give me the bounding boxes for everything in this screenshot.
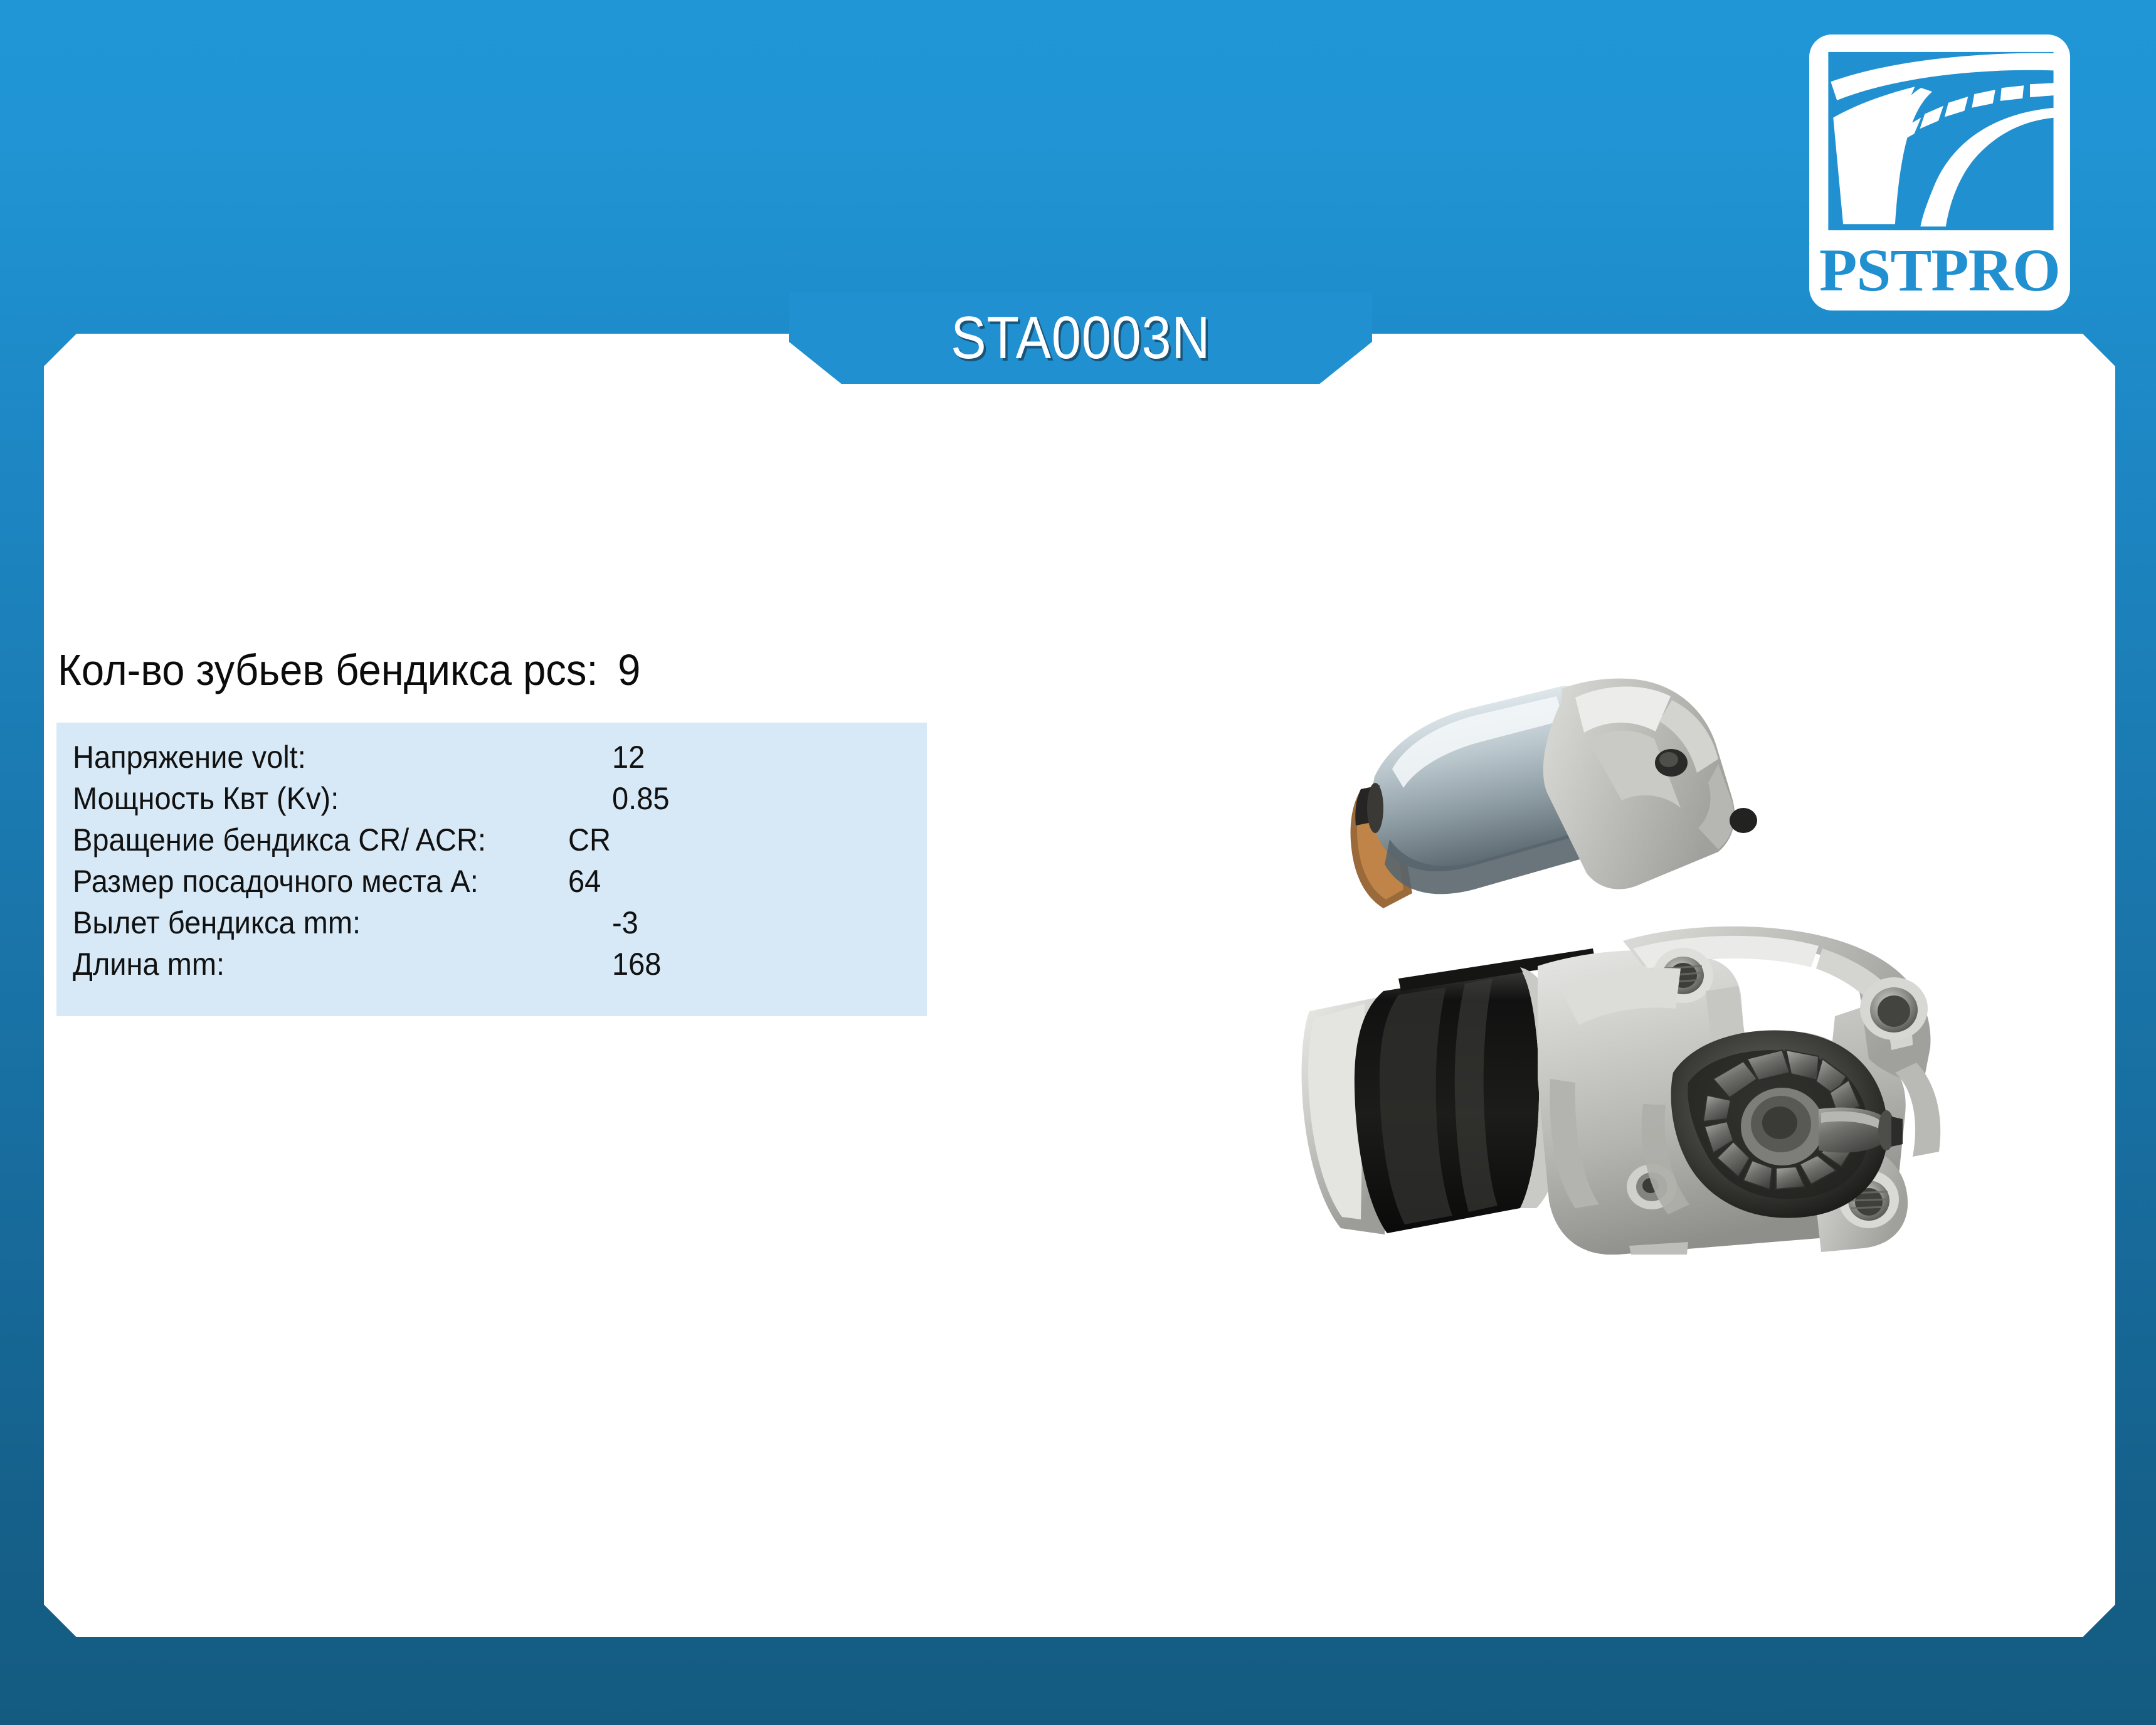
logo-wordmark: PSTPRO <box>1805 240 2074 300</box>
spec-value: 168 <box>612 946 661 982</box>
spec-label: Мощность Квт (Kv): <box>73 780 339 817</box>
spec-row: Вращение бендикса CR/ ACR:CR <box>73 822 927 863</box>
spec-label: Размер посадочного места А: <box>73 863 478 900</box>
specification-table: Напряжение volt:12Мощность Квт (Kv):0.85… <box>56 723 927 1016</box>
starter-motor-photo <box>1267 640 1950 1255</box>
product-spec-sheet: PSTPRO STA0003N Кол-во зубьев бендикса p… <box>0 0 2156 1725</box>
spec-row: Длина mm:168 <box>73 946 927 987</box>
spec-value: -3 <box>612 905 638 941</box>
brand-logo: PSTPRO <box>1809 34 2070 310</box>
spec-value: CR <box>568 822 611 858</box>
bendix-teeth-value: 9 <box>618 645 640 694</box>
spec-value: 12 <box>612 739 645 775</box>
spec-row: Вылет бендикса mm:-3 <box>73 905 927 946</box>
spec-row: Мощность Квт (Kv):0.85 <box>73 780 927 822</box>
bendix-teeth-label: Кол-во зубьев бендикса pcs: <box>58 645 598 694</box>
bendix-teeth-heading: Кол-во зубьев бендикса pcs:9 <box>58 645 640 695</box>
road-highway-icon <box>1822 48 2058 234</box>
spec-value: 64 <box>568 863 601 900</box>
spec-row: Напряжение volt:12 <box>73 739 927 780</box>
part-number-banner: STA0003N <box>789 292 1372 384</box>
spec-label: Вылет бендикса mm: <box>73 905 361 941</box>
spec-label: Напряжение volt: <box>73 739 306 775</box>
spec-row: Размер посадочного места А:64 <box>73 863 927 905</box>
page-title: STA0003N <box>951 308 1210 368</box>
spec-label: Вращение бендикса CR/ ACR: <box>73 822 486 858</box>
spec-value: 0.85 <box>612 780 669 817</box>
spec-label: Длина mm: <box>73 946 225 982</box>
